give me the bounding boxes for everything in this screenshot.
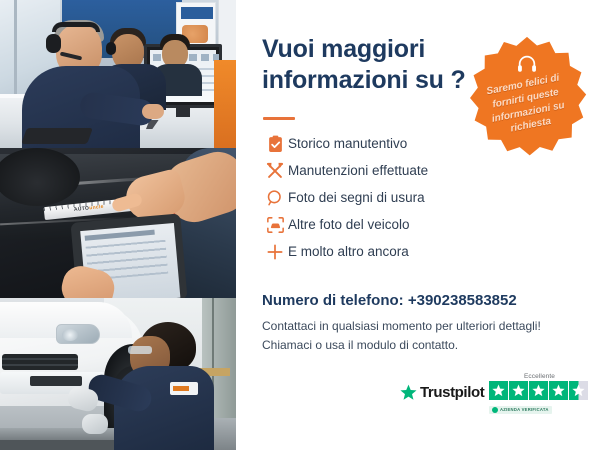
star-3 (529, 381, 548, 400)
hand (142, 104, 164, 119)
feature-item-more: E molto altro ancora (262, 238, 477, 265)
headlight (56, 324, 100, 344)
verified-business-badge: AZIENDA VERIFICATA (489, 406, 552, 414)
ruler-brand-label: AUTOuncle (74, 204, 104, 213)
rating-caption: Eccellente (489, 373, 590, 380)
headset-band (52, 22, 100, 32)
contact-line-2: Chiamaci o usa il modulo di contatto. (262, 336, 562, 355)
feature-label: Foto dei segni di usura (288, 190, 425, 205)
star-2 (509, 381, 528, 400)
star-5-half (569, 381, 588, 400)
feature-item-more-photos: Altre foto del veicolo (262, 211, 477, 238)
desk-tablet (21, 128, 93, 144)
call-center-agents-photo (0, 0, 236, 148)
headset-earcup (46, 34, 61, 53)
clipboard-check-icon (262, 133, 288, 155)
trustpilot-star-icon (400, 384, 417, 401)
front-grille (2, 354, 78, 370)
magnifier-icon (262, 187, 288, 209)
work-glove-lower (82, 414, 108, 434)
headset-icon (515, 53, 539, 75)
car-body-inspection-ruler-photo: AUTOuncle (0, 148, 236, 298)
feature-label: Altre foto del veicolo (288, 217, 410, 232)
feature-item-maintenance-history: Storico manutentivo (262, 130, 477, 157)
car-lift-base (0, 440, 120, 450)
plus-icon (262, 241, 288, 263)
trustpilot-logo: Trustpilot (400, 384, 484, 401)
contact-line-1: Contattaci in qualsiasi momento per ulte… (262, 317, 562, 336)
monitor-stand (176, 105, 190, 117)
trustpilot-rating: Eccellente AZIENDA VERIFICATA (489, 373, 590, 418)
trustpilot-widget[interactable]: Trustpilot Eccellente AZIENDA VERIFICATA (400, 373, 590, 421)
rating-stars (489, 381, 590, 400)
trustpilot-wordmark: Trustpilot (420, 384, 484, 401)
feature-label: E molto altro ancora (288, 244, 409, 259)
verified-label: AZIENDA VERIFICATA (500, 407, 549, 412)
page-title: Vuoi maggiori informazioni su ? (262, 34, 472, 95)
bumper-vent (30, 376, 82, 386)
star-1 (489, 381, 508, 400)
title-divider (263, 117, 295, 120)
feature-label: Manutenzioni effettuate (288, 163, 428, 178)
feature-label: Storico manutentivo (288, 136, 407, 151)
uniform-logo-patch (170, 382, 198, 395)
feature-list: Storico manutentivo Manutenzioni effettu… (262, 130, 477, 265)
contact-instructions: Contattaci in qualsiasi momento per ulte… (262, 317, 562, 354)
photo-column: AUTOuncle (0, 0, 236, 450)
star-4 (549, 381, 568, 400)
safety-glasses (128, 346, 152, 354)
verified-check-icon (492, 407, 498, 413)
feature-item-wear-photos: Foto dei segni di usura (262, 184, 477, 211)
mechanic (112, 322, 216, 450)
orange-equipment (214, 60, 236, 148)
phone-number-link[interactable]: +390238583852 (408, 292, 517, 309)
phone-block: Numero di telefono: +390238583852 (262, 292, 517, 309)
wrench-screwdriver-cross-icon (262, 160, 288, 182)
content-panel: Vuoi maggiori informazioni su ? Saremo f… (236, 0, 600, 450)
feature-item-maintenance-done: Manutenzioni effettuate (262, 157, 477, 184)
availability-badge: Saremo felici di fornirti queste informa… (466, 34, 588, 158)
mechanic-wheel-inspection-photo (0, 298, 236, 450)
phone-label: Numero di telefono: (262, 292, 408, 309)
car-scan-frame-icon (262, 214, 288, 236)
info-request-panel: AUTOuncle (0, 0, 600, 450)
